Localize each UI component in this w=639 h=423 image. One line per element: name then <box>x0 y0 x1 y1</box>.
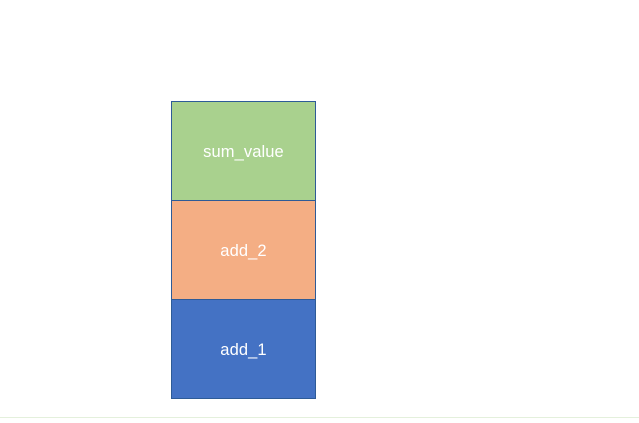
add-1-block-label: add_1 <box>220 342 266 359</box>
add-1-block[interactable]: add_1 <box>171 299 316 399</box>
add-2-block-label: add_2 <box>220 243 266 260</box>
sum-value-block-label: sum_value <box>203 144 284 161</box>
sum-value-block[interactable]: sum_value <box>171 101 316 201</box>
add-2-block[interactable]: add_2 <box>171 200 316 300</box>
bottom-divider <box>0 417 639 418</box>
variable-stack: sum_value add_2 add_1 <box>171 101 316 401</box>
diagram-canvas: sum_value add_2 add_1 <box>0 0 639 423</box>
